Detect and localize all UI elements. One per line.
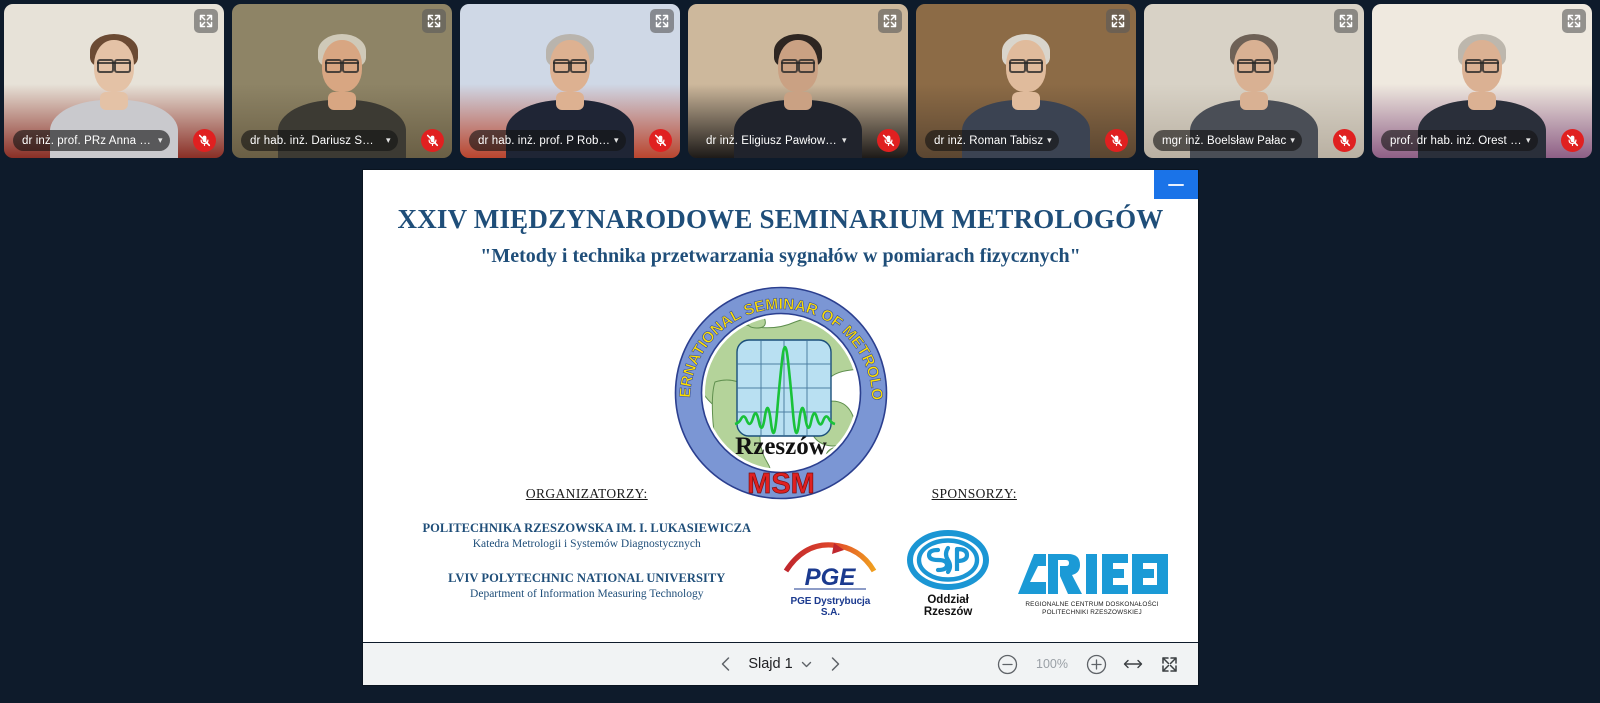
- mic-muted-badge[interactable]: [193, 129, 216, 152]
- sep-logo: Oddział Rzeszów: [902, 530, 994, 618]
- participant-name-chip[interactable]: prof. dr hab. inż. Orest Ivak... ▾: [1381, 130, 1538, 151]
- expand-icon: [199, 14, 213, 28]
- slide-title: XXIV MIĘDZYNARODOWE SEMINARIUM METROLOGÓ…: [363, 204, 1198, 235]
- mic-muted-badge[interactable]: [1105, 129, 1128, 152]
- participant-video-strip: dr inż. prof. PRz Anna Szlac... ▾: [0, 0, 1600, 162]
- mic-muted-icon: [1110, 134, 1123, 147]
- pge-logo-icon: PGE: [782, 541, 878, 593]
- next-slide-button[interactable]: [825, 654, 845, 674]
- participant-name: dr hab. inż. prof. P Robert ...: [478, 135, 610, 147]
- expand-tile-button[interactable]: [878, 9, 902, 33]
- mic-muted-badge[interactable]: [1333, 129, 1356, 152]
- mic-muted-icon: [426, 134, 439, 147]
- participant-name-chip[interactable]: dr inż. prof. PRz Anna Szlac... ▾: [13, 130, 170, 151]
- video-conference-window: dr inż. prof. PRz Anna Szlac... ▾: [0, 0, 1600, 703]
- arieet-caption-line1: REGIONALNE CENTRUM DOSKONAŁOŚCI: [1025, 601, 1158, 610]
- minimize-share-button[interactable]: [1154, 170, 1198, 199]
- slide-selector-label: Slajd 1: [748, 656, 792, 672]
- participant-name: mgr inż. Boelsław Pałac: [1162, 135, 1286, 147]
- organizer-entry: POLITECHNIKA RZESZOWSKA IM. I. LUKASIEWI…: [393, 521, 781, 550]
- fullscreen-icon: [1159, 654, 1180, 675]
- shared-presentation-panel: XXIV MIĘDZYNARODOWE SEMINARIUM METROLOGÓ…: [363, 170, 1198, 685]
- organizers-column: ORGANIZATORZY: POLITECHNIKA RZESZOWSKA I…: [393, 486, 781, 618]
- participant-name: dr inż. Eligiusz Pawłowski: [706, 135, 838, 147]
- chevron-down-icon: [800, 658, 813, 671]
- expand-tile-button[interactable]: [650, 9, 674, 33]
- slide-selector[interactable]: Slajd 1: [748, 656, 812, 672]
- expand-tile-button[interactable]: [194, 9, 218, 33]
- msm-emblem-graphic: Rzeszów MSM INTERNATIONAL SEMINAR OF MET…: [657, 278, 905, 510]
- participant-name: dr inż. prof. PRz Anna Szlac...: [22, 135, 154, 147]
- expand-icon: [883, 14, 897, 28]
- organizers-heading: ORGANIZATORZY:: [393, 486, 781, 502]
- mic-muted-icon: [654, 134, 667, 147]
- participant-tile[interactable]: dr inż. prof. PRz Anna Szlac... ▾: [4, 4, 224, 158]
- mic-muted-badge[interactable]: [421, 129, 444, 152]
- sponsors-heading: SPONSORZY:: [781, 486, 1169, 502]
- mic-muted-badge[interactable]: [649, 129, 672, 152]
- expand-icon: [1567, 14, 1581, 28]
- participant-name: prof. dr hab. inż. Orest Ivak...: [1390, 135, 1522, 147]
- expand-tile-button[interactable]: [1562, 9, 1586, 33]
- participant-name-chip[interactable]: dr inż. Roman Tabisz ▾: [925, 130, 1059, 151]
- plus-circle-icon: [1086, 654, 1107, 675]
- chevron-down-icon: ▾: [1290, 136, 1295, 145]
- msm-emblem: Rzeszów MSM INTERNATIONAL SEMINAR OF MET…: [657, 278, 905, 515]
- slide-canvas[interactable]: XXIV MIĘDZYNARODOWE SEMINARIUM METROLOGÓ…: [363, 170, 1198, 642]
- participant-tile[interactable]: mgr inż. Boelsław Pałac ▾: [1144, 4, 1364, 158]
- presentation-toolbar: Slajd 1 100%: [363, 642, 1198, 685]
- mic-muted-icon: [198, 134, 211, 147]
- pge-logo-caption: PGE Dystrybucja S.A.: [781, 596, 881, 618]
- participant-name: dr hab. inż. Dariusz Świsuls...: [250, 135, 382, 147]
- participant-name-chip[interactable]: dr inż. Eligiusz Pawłowski ▾: [697, 130, 854, 151]
- participant-name-chip[interactable]: dr hab. inż. Dariusz Świsuls... ▾: [241, 130, 398, 151]
- fullscreen-button[interactable]: [1159, 654, 1180, 675]
- chevron-down-icon: ▾: [1526, 136, 1531, 145]
- minimize-icon: [1168, 184, 1184, 186]
- expand-icon: [1339, 14, 1353, 28]
- chevron-down-icon: ▾: [386, 136, 391, 145]
- pge-logo-text: PGE: [805, 564, 857, 591]
- expand-icon: [1111, 14, 1125, 28]
- emblem-city-text: Rzeszów: [735, 433, 827, 460]
- participant-name: dr inż. Roman Tabisz: [934, 135, 1043, 147]
- expand-tile-button[interactable]: [1334, 9, 1358, 33]
- fit-to-width-button[interactable]: [1122, 654, 1144, 674]
- participant-tile[interactable]: dr hab. inż. prof. P Robert ... ▾: [460, 4, 680, 158]
- mic-muted-icon: [1338, 134, 1351, 147]
- chevron-down-icon: ▾: [614, 136, 619, 145]
- expand-icon: [427, 14, 441, 28]
- mic-muted-badge[interactable]: [1561, 129, 1584, 152]
- participant-tile[interactable]: dr inż. Eligiusz Pawłowski ▾: [688, 4, 908, 158]
- participant-tile[interactable]: prof. dr hab. inż. Orest Ivak... ▾: [1372, 4, 1592, 158]
- chevron-down-icon: ▾: [842, 136, 847, 145]
- participant-tile[interactable]: dr inż. Roman Tabisz ▾: [916, 4, 1136, 158]
- zoom-out-button[interactable]: [997, 654, 1018, 675]
- sponsors-column: SPONSORZY:: [781, 486, 1169, 618]
- chevron-down-icon: ▾: [1047, 136, 1052, 145]
- zoom-in-button[interactable]: [1086, 654, 1107, 675]
- arieet-logo-icon: [1016, 550, 1168, 598]
- sep-logo-caption: Oddział Rzeszów: [902, 594, 994, 618]
- chevron-left-icon: [716, 654, 736, 674]
- expand-tile-button[interactable]: [422, 9, 446, 33]
- organizer-department: Department of Information Measuring Tech…: [393, 588, 781, 600]
- arieet-logo: REGIONALNE CENTRUM DOSKONAŁOŚCI POLITECH…: [1016, 550, 1168, 618]
- expand-tile-button[interactable]: [1106, 9, 1130, 33]
- arieet-logo-caption: REGIONALNE CENTRUM DOSKONAŁOŚCI POLITECH…: [1025, 601, 1158, 618]
- participant-name-chip[interactable]: dr hab. inż. prof. P Robert ... ▾: [469, 130, 626, 151]
- mic-muted-icon: [882, 134, 895, 147]
- previous-slide-button[interactable]: [716, 654, 736, 674]
- mic-muted-icon: [1566, 134, 1579, 147]
- organizer-department: Katedra Metrologii i Systemów Diagnostyc…: [393, 538, 781, 550]
- slide-lower-content: ORGANIZATORZY: POLITECHNIKA RZESZOWSKA I…: [363, 486, 1198, 618]
- minus-circle-icon: [997, 654, 1018, 675]
- organizer-name: LVIV POLYTECHNIC NATIONAL UNIVERSITY: [393, 571, 781, 586]
- organizer-name: POLITECHNIKA RZESZOWSKA IM. I. LUKASIEWI…: [393, 521, 781, 536]
- slide-subtitle: "Metody i technika przetwarzania sygnałó…: [363, 245, 1198, 268]
- pge-logo: PGE PGE Dystrybucja S.A.: [781, 541, 881, 618]
- organizer-entry: LVIV POLYTECHNIC NATIONAL UNIVERSITY Dep…: [393, 571, 781, 600]
- sponsor-logo-row: PGE PGE Dystrybucja S.A.: [781, 530, 1169, 618]
- chevron-down-icon: ▾: [158, 136, 163, 145]
- arieet-caption-line2: POLITECHNIKI RZESZOWSKIEJ: [1025, 609, 1158, 618]
- chevron-right-icon: [825, 654, 845, 674]
- zoom-level-value: 100%: [1033, 657, 1071, 671]
- mic-muted-badge[interactable]: [877, 129, 900, 152]
- participant-name-chip[interactable]: mgr inż. Boelsław Pałac ▾: [1153, 130, 1302, 151]
- participant-tile[interactable]: dr hab. inż. Dariusz Świsuls... ▾: [232, 4, 452, 158]
- expand-icon: [655, 14, 669, 28]
- arrows-horizontal-icon: [1122, 654, 1144, 674]
- sep-logo-icon: [906, 530, 990, 592]
